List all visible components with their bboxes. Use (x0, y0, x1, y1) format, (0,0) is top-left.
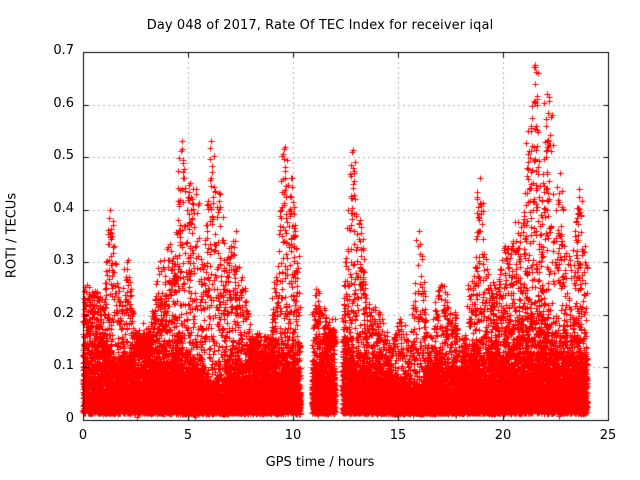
y-tick-label: 0.5 (53, 148, 74, 163)
y-tick-label: 0.2 (53, 306, 74, 321)
x-tick-label: 25 (588, 428, 628, 443)
x-tick-label: 10 (273, 428, 313, 443)
y-tick-label: 0.7 (53, 43, 74, 58)
y-tick-label: 0.4 (53, 201, 74, 216)
x-tick-label: 15 (378, 428, 418, 443)
y-tick-label: 0.6 (53, 96, 74, 111)
x-tick-label: 5 (168, 428, 208, 443)
x-tick-label: 20 (483, 428, 523, 443)
roti-scatter-plot: Day 048 of 2017, Rate Of TEC Index for r… (0, 0, 640, 480)
plot-canvas (0, 0, 640, 480)
y-tick-label: 0 (66, 411, 74, 426)
x-tick-label: 0 (63, 428, 103, 443)
y-tick-label: 0.3 (53, 253, 74, 268)
y-axis-label: ROTI / TECUs (5, 156, 20, 316)
page-title: Day 048 of 2017, Rate Of TEC Index for r… (0, 18, 640, 33)
y-tick-label: 0.1 (53, 358, 74, 373)
x-axis-label: GPS time / hours (0, 455, 640, 470)
